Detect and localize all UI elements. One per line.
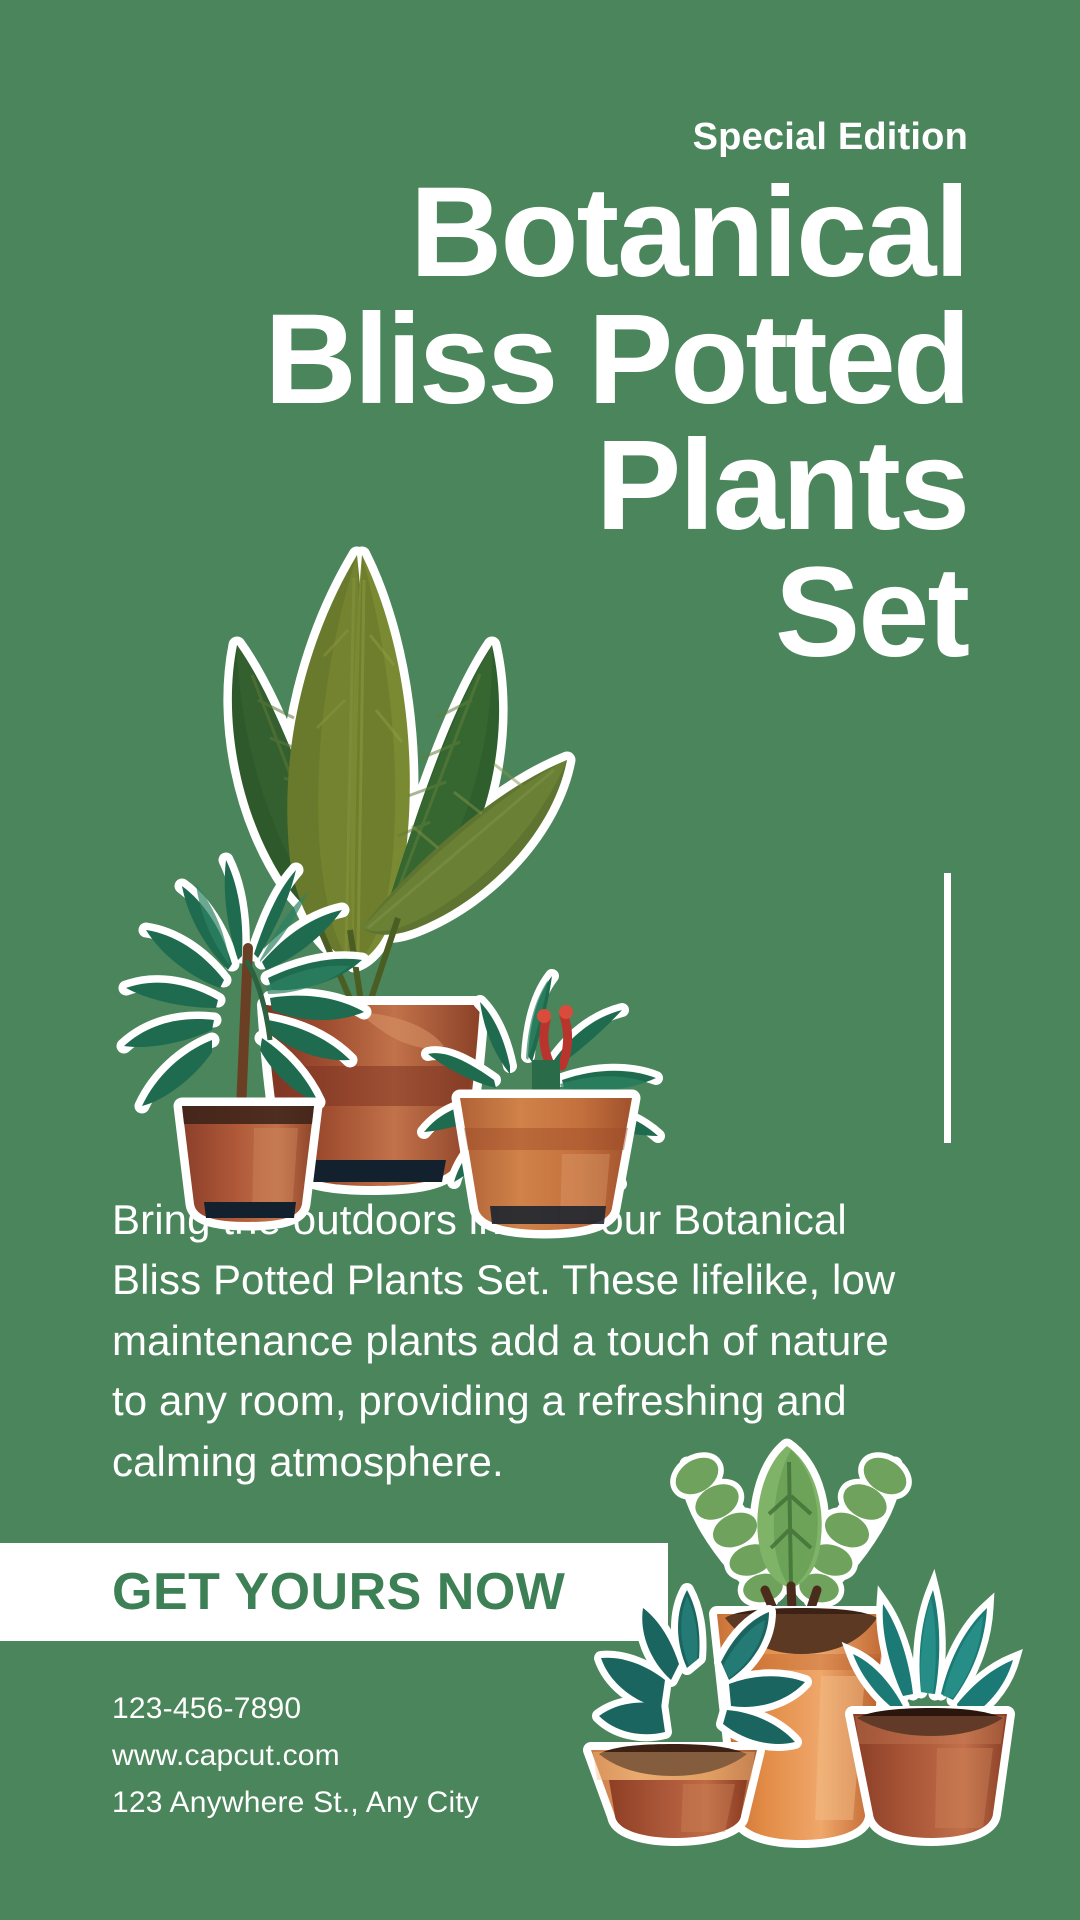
title-line-2: Bliss Potted [0, 297, 968, 424]
eyebrow-label: Special Edition [0, 118, 1080, 156]
hero-plants-illustration [62, 460, 762, 1180]
get-yours-now-button[interactable]: GET YOURS NOW [112, 1563, 565, 1621]
contact-phone[interactable]: 123-456-7890 [112, 1685, 479, 1732]
vertical-accent-rule [944, 873, 951, 1143]
footer-plants-illustration [565, 1418, 1005, 1848]
contact-address: 123 Anywhere St., Any City [112, 1779, 479, 1826]
contact-block: 123-456-7890 www.capcut.com 123 Anywhere… [112, 1685, 479, 1826]
contact-website[interactable]: www.capcut.com [112, 1732, 479, 1779]
footer-plant-agave-right [853, 1590, 1013, 1838]
poster-canvas: Special Edition Botanical Bliss Potted P… [0, 0, 1080, 1920]
title-line-1: Botanical [0, 170, 968, 297]
